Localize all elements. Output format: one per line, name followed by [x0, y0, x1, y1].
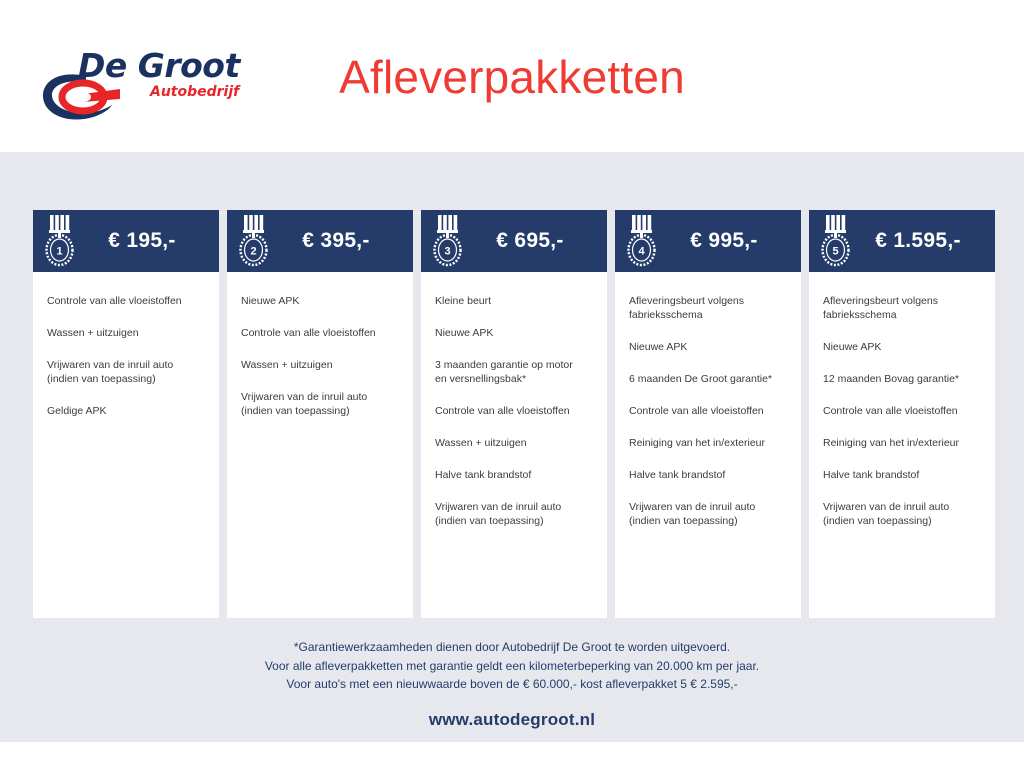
- package-feature-item: Vrijwaren van de inruil auto (indien van…: [241, 390, 399, 418]
- package-feature-item: Halve tank brandstof: [629, 468, 787, 482]
- package-feature-list: Kleine beurtNieuwe APK3 maanden garantie…: [421, 272, 607, 618]
- svg-text:5: 5: [832, 246, 838, 258]
- package-card[interactable]: 2€ 395,-Nieuwe APKControle van alle vloe…: [227, 210, 413, 618]
- svg-text:1: 1: [56, 246, 62, 258]
- website-url[interactable]: www.autodegroot.nl: [0, 710, 1024, 730]
- package-feature-item: Controle van alle vloeistoffen: [435, 404, 593, 418]
- package-price: € 1.595,-: [855, 229, 983, 253]
- package-feature-item: Nieuwe APK: [629, 340, 787, 354]
- package-feature-list: Afleveringsbeurt volgens fabrieksschemaN…: [809, 272, 995, 618]
- package-price: € 195,-: [79, 229, 207, 253]
- page-title: Afleverpakketten: [0, 50, 1024, 104]
- package-card[interactable]: 4€ 995,-Afleveringsbeurt volgens fabriek…: [615, 210, 801, 618]
- package-feature-item: Vrijwaren van de inruil auto (indien van…: [629, 500, 787, 528]
- svg-text:2: 2: [250, 246, 256, 258]
- package-feature-item: Vrijwaren van de inruil auto (indien van…: [435, 500, 593, 528]
- package-cards: 1€ 195,-Controle van alle vloeistoffenWa…: [33, 210, 995, 618]
- package-feature-item: Kleine beurt: [435, 294, 593, 308]
- package-feature-list: Afleveringsbeurt volgens fabrieksschemaN…: [615, 272, 801, 618]
- package-card-header: 2€ 395,-: [227, 210, 413, 272]
- package-feature-item: Nieuwe APK: [435, 326, 593, 340]
- package-feature-list: Nieuwe APKControle van alle vloeistoffen…: [227, 272, 413, 618]
- footnote-line: Voor auto's met een nieuwwaarde boven de…: [0, 675, 1024, 694]
- medal-icon: 2: [237, 214, 273, 268]
- package-feature-item: Controle van alle vloeistoffen: [823, 404, 981, 418]
- package-feature-item: Vrijwaren van de inruil auto (indien van…: [47, 358, 205, 386]
- package-feature-item: Afleveringsbeurt volgens fabrieksschema: [823, 294, 981, 322]
- footnote-line: Voor alle afleverpakketten met garantie …: [0, 657, 1024, 676]
- package-card-header: 5€ 1.595,-: [809, 210, 995, 272]
- footnotes: *Garantiewerkzaamheden dienen door Autob…: [0, 638, 1024, 694]
- package-card[interactable]: 3€ 695,-Kleine beurtNieuwe APK3 maanden …: [421, 210, 607, 618]
- package-price: € 695,-: [467, 229, 595, 253]
- package-feature-item: 3 maanden garantie op motor en versnelli…: [435, 358, 593, 386]
- medal-icon: 5: [819, 214, 855, 268]
- package-feature-item: Halve tank brandstof: [435, 468, 593, 482]
- package-feature-item: 6 maanden De Groot garantie*: [629, 372, 787, 386]
- package-feature-item: Reiniging van het in/exterieur: [823, 436, 981, 450]
- package-card-header: 1€ 195,-: [33, 210, 219, 272]
- svg-text:3: 3: [444, 246, 450, 258]
- package-feature-item: Controle van alle vloeistoffen: [241, 326, 399, 340]
- package-feature-item: Halve tank brandstof: [823, 468, 981, 482]
- package-feature-item: Wassen + uitzuigen: [435, 436, 593, 450]
- package-price: € 395,-: [273, 229, 401, 253]
- package-feature-item: Geldige APK: [47, 404, 205, 418]
- package-card-header: 3€ 695,-: [421, 210, 607, 272]
- package-card[interactable]: 1€ 195,-Controle van alle vloeistoffenWa…: [33, 210, 219, 618]
- content-band: 1€ 195,-Controle van alle vloeistoffenWa…: [0, 152, 1024, 742]
- medal-icon: 3: [431, 214, 467, 268]
- medal-icon: 4: [625, 214, 661, 268]
- package-feature-item: 12 maanden Bovag garantie*: [823, 372, 981, 386]
- package-feature-item: Nieuwe APK: [241, 294, 399, 308]
- package-feature-item: Wassen + uitzuigen: [47, 326, 205, 340]
- package-card-header: 4€ 995,-: [615, 210, 801, 272]
- afleverpakketten-page: De Groot Autobedrijf Afleverpakketten 1€…: [0, 0, 1024, 768]
- package-feature-list: Controle van alle vloeistoffenWassen + u…: [33, 272, 219, 618]
- package-card[interactable]: 5€ 1.595,-Afleveringsbeurt volgens fabri…: [809, 210, 995, 618]
- package-feature-item: Controle van alle vloeistoffen: [629, 404, 787, 418]
- package-price: € 995,-: [661, 229, 789, 253]
- package-feature-item: Reiniging van het in/exterieur: [629, 436, 787, 450]
- page-header: De Groot Autobedrijf Afleverpakketten: [0, 0, 1024, 152]
- package-feature-item: Nieuwe APK: [823, 340, 981, 354]
- package-feature-item: Wassen + uitzuigen: [241, 358, 399, 372]
- footnote-line: *Garantiewerkzaamheden dienen door Autob…: [0, 638, 1024, 657]
- medal-icon: 1: [43, 214, 79, 268]
- package-feature-item: Controle van alle vloeistoffen: [47, 294, 205, 308]
- svg-text:4: 4: [638, 246, 645, 258]
- package-feature-item: Afleveringsbeurt volgens fabrieksschema: [629, 294, 787, 322]
- package-feature-item: Vrijwaren van de inruil auto (indien van…: [823, 500, 981, 528]
